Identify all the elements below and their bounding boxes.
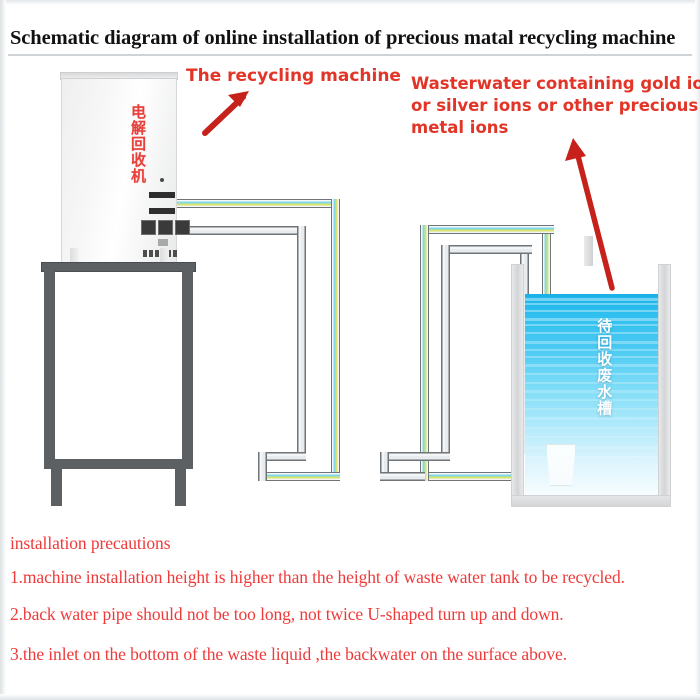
- machine-chinese-label: 电解回收机: [126, 104, 146, 184]
- pipe-tank-top-run: [420, 225, 550, 234]
- pipe-inner-into-tank-elbow: [520, 245, 532, 254]
- stand-side-left: [44, 271, 55, 467]
- waste-water-tank: [511, 264, 671, 510]
- schematic-diagram-page: Schematic diagram of online installation…: [0, 0, 700, 700]
- pipe-tank-down-left: [420, 225, 429, 421]
- tank-chinese-label: 待回收废水槽: [595, 318, 613, 417]
- indicator-dot: [173, 250, 177, 257]
- pipe-tank-ubend-riser: [420, 412, 429, 481]
- note-item-1: 1.machine installation height is higher …: [10, 567, 625, 588]
- water-wave-line: [525, 466, 658, 468]
- pipe-inner-down-1: [297, 226, 306, 283]
- annotation-wastewater-line-1: Wasterwater containing gold ions: [411, 73, 689, 95]
- tank-wall-right: [658, 264, 671, 502]
- water-wave-line: [525, 373, 658, 375]
- panel-bar-lower: [149, 208, 175, 214]
- page-title: Schematic diagram of online installation…: [10, 27, 696, 50]
- panel-bar-upper: [149, 192, 175, 198]
- note-item-2: 2.back water pipe should not be too long…: [10, 604, 564, 625]
- water-wave-line: [525, 303, 658, 305]
- water-wave-line: [525, 356, 658, 358]
- pipe-inner-down-2: [297, 280, 306, 460]
- water-wave-line: [525, 486, 658, 488]
- annotation-recycling-machine: The recycling machine: [186, 65, 401, 87]
- water-wave-line: [525, 456, 658, 458]
- pipe-inner-top-run: [176, 226, 306, 235]
- display-cell: [175, 220, 190, 235]
- water-wave-line: [525, 349, 658, 351]
- pipe-into-tank-elbow: [542, 225, 554, 234]
- water-wave-line: [525, 298, 658, 301]
- water-wave-line: [525, 364, 658, 367]
- indicator-dot: [143, 250, 147, 257]
- water-wave-line: [525, 476, 658, 479]
- water-wave-line: [525, 427, 658, 429]
- stand-leg-left: [51, 468, 62, 506]
- pipe-inner-ubend-left: [258, 452, 267, 481]
- power-indicator-icon: [160, 178, 164, 182]
- stand-side-right: [182, 271, 193, 467]
- stand-top-bar: [41, 262, 196, 272]
- annotation-wastewater-line-2: or silver ions or other precious: [411, 95, 689, 117]
- water-wave-line: [525, 332, 658, 334]
- water-wave-line: [525, 436, 658, 438]
- title-divider: [8, 54, 692, 56]
- water-wave-line: [525, 446, 658, 449]
- pipe-outer-ubend-bottom: [258, 472, 340, 481]
- arrow-to-recycling-machine: [205, 91, 249, 133]
- stand-bottom-rail: [44, 459, 193, 469]
- pipe-inner-tank-top: [441, 245, 529, 254]
- water-wave-line: [525, 408, 658, 410]
- annotation-wastewater: Wasterwater containing gold ions or silv…: [411, 73, 689, 138]
- water-wave-line: [525, 310, 658, 312]
- note-item-3: 3.the inlet on the bottom of the waste l…: [10, 644, 567, 665]
- water-wave-line: [525, 390, 658, 393]
- water-wave-line: [525, 318, 658, 321]
- water-wave-line: [525, 341, 658, 344]
- water-wave-line: [525, 399, 658, 401]
- recycling-machine-cabinet: [61, 78, 177, 264]
- pipe-strainer: [546, 444, 576, 486]
- page-edge-top: [0, 0, 700, 5]
- water-wave-line: [525, 324, 658, 326]
- tank-inlet-stub: [584, 236, 593, 266]
- tank-wall-left: [511, 264, 524, 502]
- panel-sub-label: [158, 239, 168, 246]
- pipe-tank-ubend-bottom: [420, 472, 512, 481]
- stand-leg-right: [175, 468, 186, 506]
- pipe-inner-tank-bottom: [380, 452, 450, 461]
- water-wave-line: [525, 382, 658, 384]
- machine-stand: [41, 262, 196, 508]
- water-wave-lines: [525, 294, 658, 496]
- indicator-dot: [149, 250, 153, 257]
- tank-floor: [511, 495, 671, 507]
- annotation-wastewater-line-3: metal ions: [411, 117, 689, 139]
- water-wave-line: [525, 417, 658, 420]
- indicator-dot: [155, 250, 159, 257]
- tank-water: [525, 294, 658, 496]
- pipe-inner-tank-foot: [380, 472, 425, 481]
- page-edge-bottom: [0, 694, 700, 700]
- notes-heading: installation precautions: [10, 533, 170, 554]
- pipe-inner-tank-down: [441, 245, 450, 453]
- pipe-outer-down-2: [331, 280, 340, 480]
- page-edge-left: [0, 0, 6, 700]
- panel-display-group: [141, 220, 190, 235]
- display-cell: [141, 220, 156, 235]
- pipe-outer-top-run: [176, 199, 340, 208]
- pipe-outer-down-1: [331, 199, 340, 283]
- display-cell: [158, 220, 173, 235]
